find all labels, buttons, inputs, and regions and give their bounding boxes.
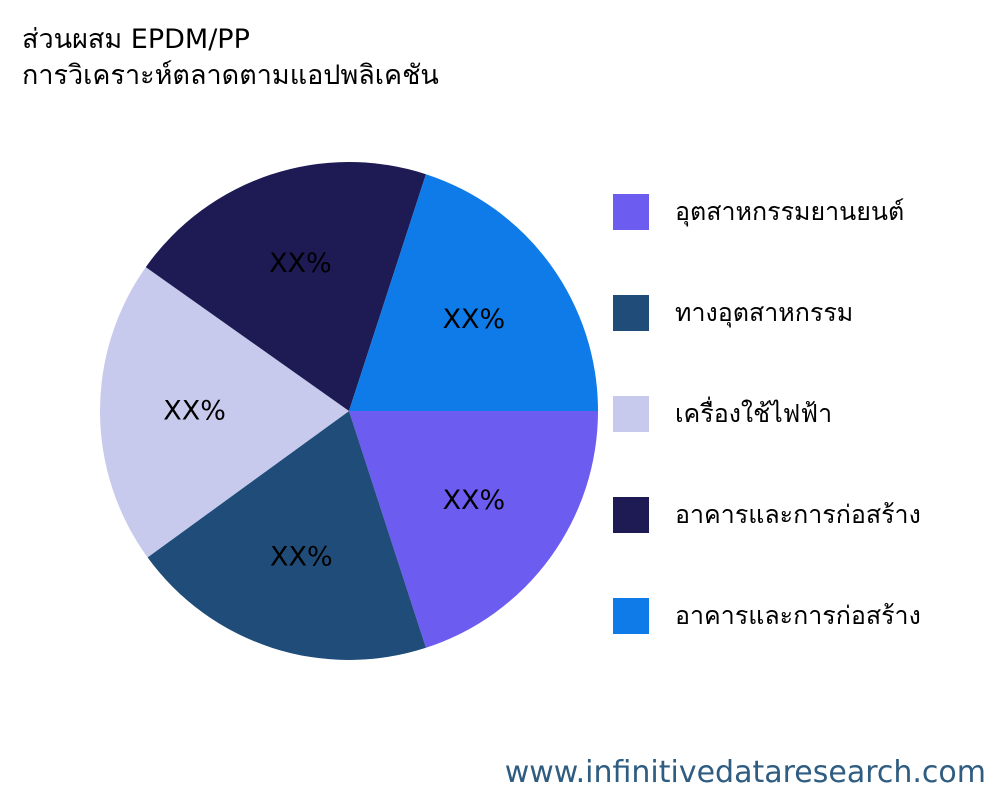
- title-line-1: ส่วนผสม EPDM/PP: [22, 22, 662, 58]
- pie-plot-area: XX%XX%XX%XX%XX%: [100, 162, 598, 660]
- legend-item[interactable]: เครื่องใช้ไฟฟ้า: [613, 363, 993, 464]
- pie-chart-figure: ส่วนผสม EPDM/PP การวิเคราะห์ตลาดตามแอปพล…: [0, 0, 1000, 800]
- pie-slice-label: XX%: [163, 395, 226, 426]
- legend-item-label: เครื่องใช้ไฟฟ้า: [675, 399, 832, 429]
- legend-swatch-icon: [613, 295, 649, 331]
- legend-item-label: ทางอุตสาหกรรม: [675, 298, 853, 328]
- legend: อุตสาหกรรมยานยนต์ทางอุตสาหกรรมเครื่องใช้…: [613, 161, 993, 666]
- pie-slice-label: XX%: [269, 248, 332, 279]
- page-title: ส่วนผสม EPDM/PP การวิเคราะห์ตลาดตามแอปพล…: [22, 22, 662, 94]
- legend-swatch-icon: [613, 598, 649, 634]
- legend-item-label: อาคารและการก่อสร้าง: [675, 601, 921, 631]
- legend-item-label: อุตสาหกรรมยานยนต์: [675, 197, 904, 227]
- title-line-2: การวิเคราะห์ตลาดตามแอปพลิเคชัน: [22, 58, 662, 94]
- legend-swatch-icon: [613, 497, 649, 533]
- legend-item[interactable]: อาคารและการก่อสร้าง: [613, 464, 993, 565]
- legend-item-label: อาคารและการก่อสร้าง: [675, 500, 921, 530]
- source-url: www.infinitivedataresearch.com: [505, 755, 986, 790]
- legend-item[interactable]: อุตสาหกรรมยานยนต์: [613, 161, 993, 262]
- legend-swatch-icon: [613, 194, 649, 230]
- legend-item[interactable]: ทางอุตสาหกรรม: [613, 262, 993, 363]
- pie-slice-label: XX%: [443, 485, 506, 516]
- legend-swatch-icon: [613, 396, 649, 432]
- legend-item[interactable]: อาคารและการก่อสร้าง: [613, 565, 993, 666]
- pie-slice-label: XX%: [270, 541, 333, 572]
- pie-slice-label: XX%: [443, 304, 506, 335]
- pie-svg: XX%XX%XX%XX%XX%: [100, 162, 598, 660]
